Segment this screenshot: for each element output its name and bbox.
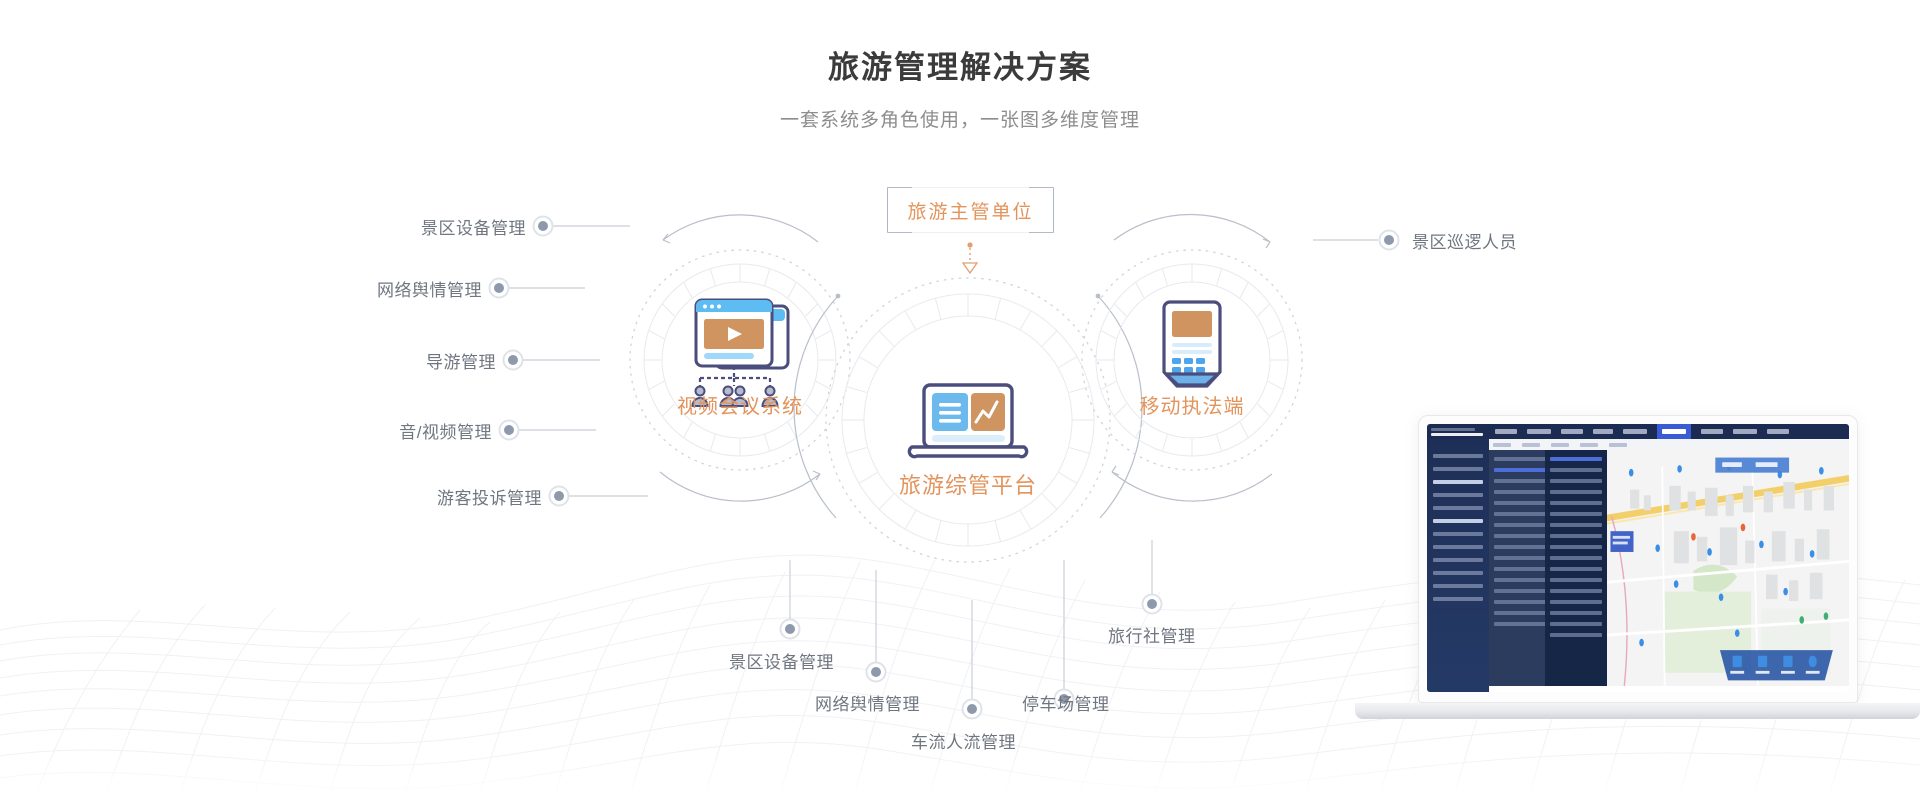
label-bottom-2[interactable]: 网络舆情管理 <box>815 690 920 715</box>
node-title-video-conference[interactable]: 视频会议系统 <box>655 390 825 419</box>
laptop-lid <box>1418 415 1858 703</box>
label-left-3[interactable]: 导游管理 <box>256 348 496 373</box>
dashboard-tabstrip <box>1489 439 1849 450</box>
dashboard-logo <box>1427 424 1489 439</box>
laptop-screen <box>1427 424 1849 692</box>
laptop-mockup <box>1355 415 1920 775</box>
dashboard-layer-panel <box>1489 450 1607 686</box>
bottom-connector-lines <box>790 540 1152 700</box>
laptop-base <box>1355 703 1920 719</box>
label-bottom-5[interactable]: 旅行社管理 <box>1108 622 1196 647</box>
dashboard-topbar <box>1427 424 1849 439</box>
dashboard-nav-active <box>1657 424 1691 439</box>
label-left-4[interactable]: 音/视频管理 <box>252 418 492 443</box>
laptop-dashboard-icon <box>909 385 1026 457</box>
node-title-mobile-enforcement[interactable]: 移动执法端 <box>1117 390 1267 419</box>
node-title-tourism-platform[interactable]: 旅游综管平台 <box>868 468 1068 500</box>
dashboard-nav <box>1489 424 1789 439</box>
label-bottom-3[interactable]: 车流人流管理 <box>911 728 1016 753</box>
dashboard-map-view <box>1607 450 1849 686</box>
left-connector-lines <box>508 226 648 496</box>
handheld-device-icon <box>1164 302 1220 386</box>
label-left-1[interactable]: 景区设备管理 <box>286 214 526 239</box>
label-right-1[interactable]: 景区巡逻人员 <box>1412 228 1517 253</box>
dashboard-sidebar <box>1427 439 1489 692</box>
label-bottom-4[interactable]: 停车场管理 <box>1022 690 1110 715</box>
label-left-5[interactable]: 游客投诉管理 <box>302 484 542 509</box>
dashboard-layer-panel-col2 <box>1545 450 1607 686</box>
dashboard-screenshot <box>1427 424 1849 692</box>
page-root: 旅游管理解决方案 一套系统多角色使用，一张图多维度管理 <box>0 0 1920 810</box>
label-left-2[interactable]: 网络舆情管理 <box>242 276 482 301</box>
governing-unit-label[interactable]: 旅游主管单位 <box>888 188 1053 232</box>
governing-unit-arrow <box>963 242 977 273</box>
label-bottom-1[interactable]: 景区设备管理 <box>729 648 834 673</box>
